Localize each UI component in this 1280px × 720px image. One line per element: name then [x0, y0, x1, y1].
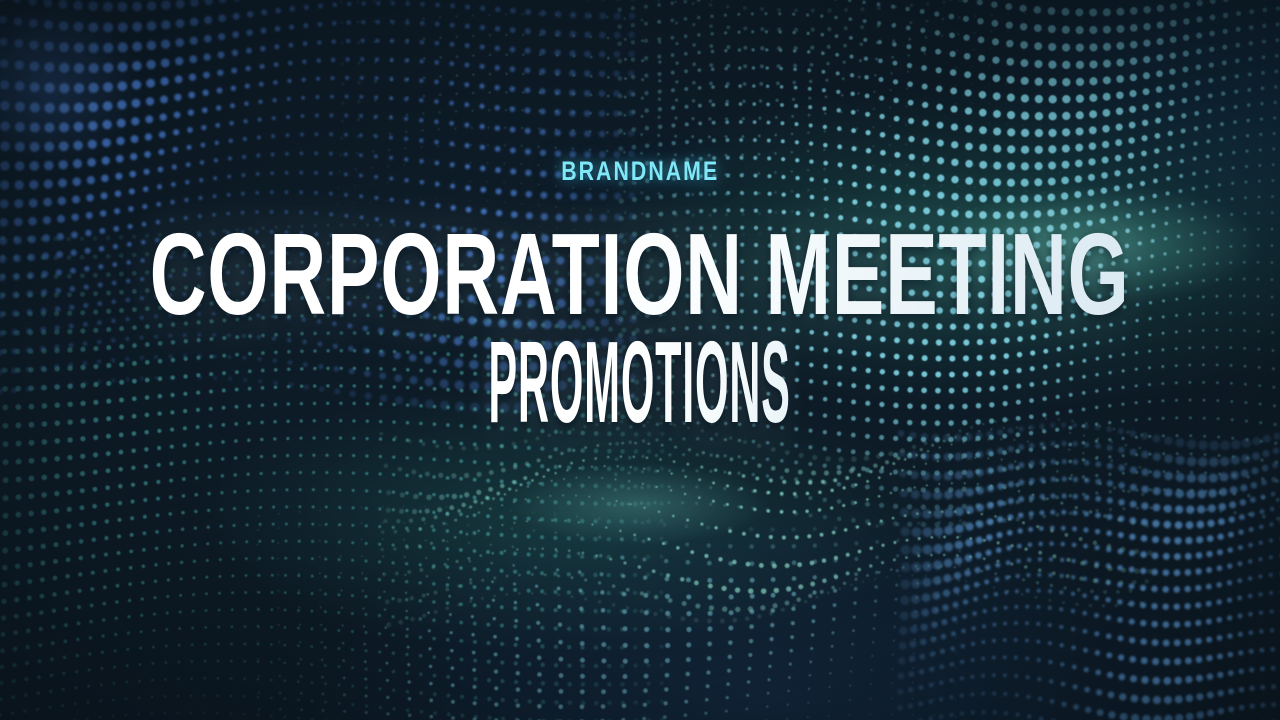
- title-line-2: PROMOTIONS: [372, 329, 908, 437]
- brand-label: BRANDNAME: [561, 158, 719, 185]
- page-title: CORPORATION MEETING PROMOTIONS: [0, 221, 1280, 437]
- title-line-1: CORPORATION MEETING: [150, 221, 1130, 329]
- title-slide: BRANDNAME CORPORATION MEETING PROMOTIONS: [0, 0, 1280, 720]
- slide-content: BRANDNAME CORPORATION MEETING PROMOTIONS: [0, 0, 1280, 720]
